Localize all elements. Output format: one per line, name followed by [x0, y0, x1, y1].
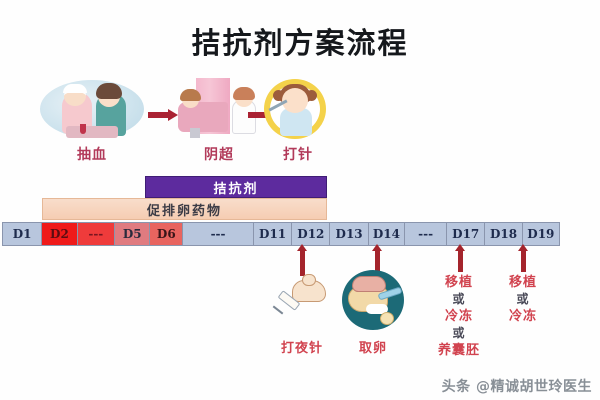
annotation-line: 移植: [428, 274, 490, 291]
annotation-label-d14: 取卵: [340, 340, 406, 357]
day-cell-d12[interactable]: D12: [292, 223, 330, 245]
annotation-line: 冷冻: [492, 308, 554, 325]
annotation-line: 养囊胚: [428, 342, 490, 359]
patient-hair-icon: [180, 89, 201, 101]
annotation-label-d12: 打夜针: [266, 340, 338, 357]
day-cell-d2[interactable]: D2: [42, 223, 77, 245]
day-cell-d6[interactable]: D6: [150, 223, 183, 245]
oocyte-icon: [380, 312, 394, 325]
bar-antagonist: 拮抗剂: [145, 176, 327, 198]
annotation-line: 冷冻: [428, 308, 490, 325]
day-cell-d11[interactable]: D11: [254, 223, 292, 245]
day-cell-d14[interactable]: D14: [369, 223, 405, 245]
doctor-hair-icon: [233, 87, 255, 100]
watermark: 头条 @精诚胡世玲医生: [442, 376, 592, 396]
infographic-canvas: 拮抗剂方案流程 抽血: [0, 0, 600, 400]
bar-stim-label: 促排卵药物: [147, 200, 222, 219]
annotation-line: 取卵: [359, 341, 387, 356]
step-label-blood-draw: 抽血: [32, 144, 152, 164]
blood-vial-icon: [80, 124, 86, 134]
pointer-arrow-d17: [458, 250, 463, 272]
day-cell-gap-1[interactable]: ---: [78, 223, 115, 245]
day-cell-gap-3[interactable]: ---: [405, 223, 447, 245]
pointer-arrow-d12: [300, 250, 305, 276]
annotation-label-d19: 移植 或 冷冻: [492, 274, 554, 325]
chair-base-icon: [190, 128, 200, 138]
annotation-connector: 或: [428, 325, 490, 342]
uterus-icon: [352, 276, 386, 292]
egg-retrieval-icon: [342, 270, 404, 330]
bar-ovulation-stimulation: 促排卵药物: [42, 198, 327, 220]
nurse-cap-icon: [63, 84, 87, 93]
needle-tip-icon: [273, 306, 284, 315]
annotation-line: 移植: [492, 274, 554, 291]
day-cell-d1[interactable]: D1: [3, 223, 42, 245]
page-title: 拮抗剂方案流程: [0, 20, 600, 62]
pointer-arrow-d19: [521, 250, 526, 272]
day-cell-d19[interactable]: D19: [523, 223, 559, 245]
step-injection: 打针: [258, 78, 338, 142]
process-illustration-row: 抽血 阴超: [0, 78, 600, 170]
blood-draw-icon: [40, 80, 144, 138]
step-blood-draw: 抽血: [32, 78, 152, 142]
retrieval-scene-icon: [342, 270, 404, 330]
annotation-connector: 或: [428, 291, 490, 308]
step-label-injection: 打针: [258, 144, 338, 164]
thumb-icon: [302, 274, 316, 286]
annotation-label-d17: 移植 或 冷冻 或 养囊胚: [428, 274, 490, 359]
patient-hair-icon: [96, 83, 122, 99]
day-cell-gap-2[interactable]: ---: [183, 223, 254, 245]
annotation-connector: 或: [492, 291, 554, 308]
day-cell-d5[interactable]: D5: [115, 223, 150, 245]
exam-table-icon: [66, 126, 118, 138]
day-axis: D1 D2 --- D5 D6 --- D11 D12 D13 D14 --- …: [2, 222, 560, 246]
annotation-line: 打夜针: [281, 341, 323, 356]
day-cell-d18[interactable]: D18: [485, 223, 522, 245]
day-cell-d13[interactable]: D13: [330, 223, 368, 245]
hand-syringe-icon: [272, 274, 332, 326]
bar-antagonist-label: 拮抗剂: [213, 178, 258, 197]
annotation-row: 打夜针 取卵 移植 或 冷冻 或 养囊胚 移植: [0, 248, 600, 383]
day-cell-d17[interactable]: D17: [447, 223, 485, 245]
